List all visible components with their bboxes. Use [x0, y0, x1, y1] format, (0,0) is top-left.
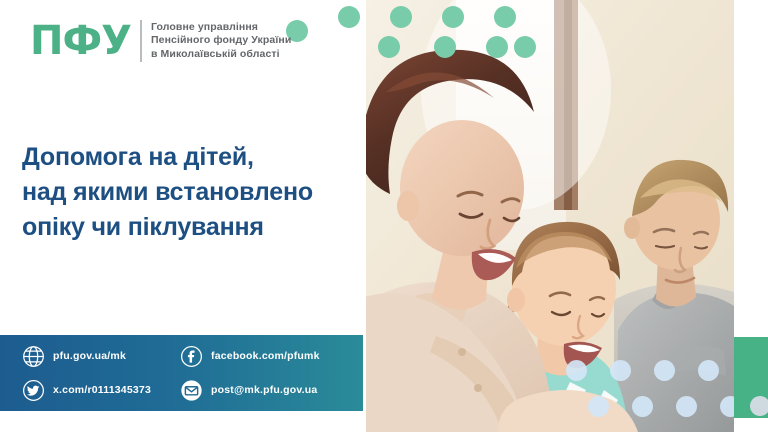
pfu-monogram: ПФУ [30, 21, 131, 61]
decor-dot [654, 360, 675, 381]
contact-twitter[interactable]: x.com/r0111345373 [22, 379, 172, 402]
decor-dot [698, 360, 719, 381]
facebook-icon [180, 345, 203, 368]
decor-dot [610, 360, 631, 381]
pfu-logo: ПФУ Головне управління Пенсійного фонду … [30, 20, 291, 62]
decor-dot [486, 36, 508, 58]
contact-facebook-label: facebook.com/pfumk [211, 350, 320, 362]
decorative-dot-grid-top [286, 4, 536, 66]
contact-email-label: post@mk.pfu.gov.ua [211, 384, 317, 396]
page-title: Допомога на дітей, над якими встановлено… [22, 140, 362, 245]
decor-dot [750, 396, 768, 416]
contact-footer-bar: pfu.gov.ua/mk facebook.com/pfumk [0, 335, 363, 411]
contact-website[interactable]: pfu.gov.ua/mk [22, 345, 172, 368]
twitter-x-icon [22, 379, 45, 402]
contact-twitter-label: x.com/r0111345373 [53, 384, 151, 396]
decor-dot [632, 396, 653, 417]
logo-divider [140, 20, 142, 62]
decor-dot [378, 36, 400, 58]
headline-line-3: опіку чи піклування [22, 210, 362, 245]
decor-dot [338, 6, 360, 28]
logo-subtitle-line-2: Пенсійного фонду України [151, 34, 291, 48]
decor-dot [566, 360, 587, 381]
decor-dot [494, 6, 516, 28]
headline-line-1: Допомога на дітей, [22, 140, 362, 175]
logo-subtitle-line-3: в Миколаївській області [151, 48, 291, 62]
decor-dot [390, 6, 412, 28]
contact-email[interactable]: post@mk.pfu.gov.ua [180, 379, 320, 402]
decor-dot [676, 396, 697, 417]
email-icon [180, 379, 203, 402]
globe-icon [22, 345, 45, 368]
decorative-dot-grid-bottom [566, 352, 756, 422]
poster-canvas: ПФУ Головне управління Пенсійного фонду … [0, 0, 768, 432]
logo-subtitle-line-1: Головне управління [151, 21, 291, 35]
decor-dot [514, 36, 536, 58]
decor-dot [434, 36, 456, 58]
contact-website-label: pfu.gov.ua/mk [53, 350, 126, 362]
logo-subtitle: Головне управління Пенсійного фонду Укра… [151, 21, 291, 62]
contact-facebook[interactable]: facebook.com/pfumk [180, 345, 320, 368]
decor-dot [588, 396, 609, 417]
decor-dot [442, 6, 464, 28]
contact-list: pfu.gov.ua/mk facebook.com/pfumk [22, 339, 320, 407]
headline-line-2: над якими встановлено [22, 175, 362, 210]
